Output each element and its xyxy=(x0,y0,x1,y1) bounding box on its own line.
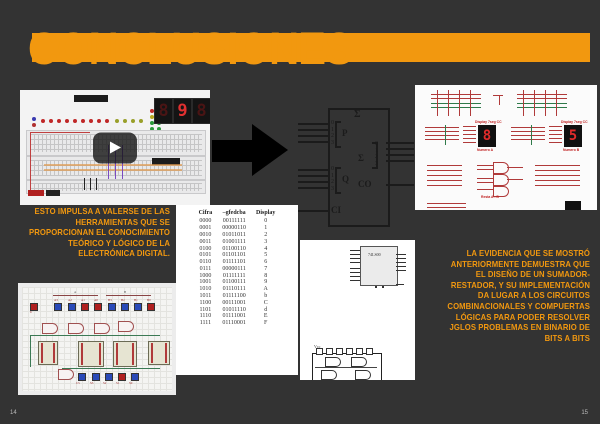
sim-xor-2 xyxy=(68,323,84,334)
table-cell: 3 xyxy=(251,238,280,245)
sim-xor-3 xyxy=(94,323,110,334)
decoder-lower-right xyxy=(535,163,581,189)
table-row: 110101011110d xyxy=(194,306,281,313)
table-cell: 01101101 xyxy=(217,252,251,259)
adder-q-2: 2 xyxy=(331,179,334,186)
wire-black-3 xyxy=(96,178,97,190)
caption-numero-a: Numero A xyxy=(477,148,493,152)
table-cell: 6 xyxy=(251,259,280,266)
sim-out-s3 xyxy=(92,373,100,381)
table-row: 0010010110112 xyxy=(194,232,281,239)
sim-label-s3: S3 xyxy=(90,381,93,385)
table-cell: 0110 xyxy=(194,259,218,266)
display-right: 5 xyxy=(564,125,582,147)
sim-switch-b0[interactable] xyxy=(147,303,155,311)
table-row: 0110011111016 xyxy=(194,259,281,266)
caption-numero-b: Numero B xyxy=(563,148,579,152)
truth-table-sheet: Cifra–gfedcbaDisplay 0000001111110000100… xyxy=(176,205,298,375)
sim-label-s1: S1 xyxy=(116,381,119,385)
subcircuit-b-top xyxy=(515,89,569,119)
seven-segment-0: 8 xyxy=(154,98,173,124)
table-cell: 0101 xyxy=(194,252,218,259)
wire-black-2 xyxy=(90,178,91,190)
table-cell: 1101 xyxy=(194,306,218,313)
sim-switch-b1[interactable] xyxy=(134,303,142,311)
table-cell: 1010 xyxy=(194,286,218,293)
table-cell: 01011110 xyxy=(217,306,251,313)
sim-out-c5 xyxy=(78,373,86,381)
table-cell: A xyxy=(251,286,280,293)
sim-switch-b2[interactable] xyxy=(121,303,129,311)
table-cell: 01111111 xyxy=(217,272,251,279)
dip-package xyxy=(312,353,382,380)
table-cell: 0100 xyxy=(194,245,218,252)
table-cell: 00000111 xyxy=(217,265,251,272)
sim-group-a: A xyxy=(74,290,76,294)
decoder-lower-left xyxy=(427,163,463,189)
sim-switch-a1[interactable] xyxy=(81,303,89,311)
seven-segment-1: 9 xyxy=(173,98,192,124)
truth-table: Cifra–gfedcbaDisplay 0000001111110000100… xyxy=(194,210,281,327)
table-cell: 01111100 xyxy=(217,293,251,300)
table-cell: 0111 xyxy=(194,265,218,272)
conclusion-text-right: LA EVIDENCIA QUE SE MOSTRÓ ANTERIORMENTE… xyxy=(443,248,590,343)
adder-label-sigma-out: Σ xyxy=(358,153,364,163)
adder-p-2: 2 xyxy=(331,133,334,140)
page-number-left: 14 xyxy=(10,410,17,416)
table-row: 111101110001F xyxy=(194,320,281,327)
table-cell: 01001111 xyxy=(217,238,251,245)
table-header-0: Cifra xyxy=(194,210,218,218)
sim-input-b0: B0 xyxy=(147,298,151,302)
table-cell: 5 xyxy=(251,252,280,259)
sim-group-b: B xyxy=(124,290,126,294)
caption-display-left: Display 7seg CC xyxy=(475,120,502,124)
table-cell: 7 xyxy=(251,265,280,272)
table-cell: 1001 xyxy=(194,279,218,286)
decoder-bottom-left xyxy=(427,201,467,210)
wire-orange xyxy=(44,164,182,166)
sim-switch-a2[interactable] xyxy=(68,303,76,311)
adder-sum-0: 0 xyxy=(375,141,378,148)
sim-input-a3: A3 xyxy=(54,298,58,302)
page-title: CONCLUSIONES xyxy=(0,25,600,73)
ic-label: 74LS00 xyxy=(368,252,381,257)
table-cell: 1100 xyxy=(194,299,218,306)
sim-label-s0: S0 xyxy=(129,381,132,385)
adder-q-3: 3 xyxy=(331,186,334,193)
table-cell: 8 xyxy=(251,272,280,279)
sim-out-s2 xyxy=(105,373,113,381)
adder-sum-3: 3 xyxy=(375,161,378,168)
adder-label-ci: CI xyxy=(331,205,341,215)
conclusion-text-left: ESTO IMPULSA A VALERSE DE LAS HERRAMIENT… xyxy=(26,206,170,259)
right-arrow-icon xyxy=(212,124,288,176)
sim-xor-1 xyxy=(42,323,58,334)
decoder-right xyxy=(511,125,546,147)
gate-network xyxy=(477,161,523,193)
table-header-2: Display xyxy=(251,210,280,218)
sim-ic-3 xyxy=(113,341,137,367)
table-row: 0011010011113 xyxy=(194,238,281,245)
table-cell: 00000110 xyxy=(217,225,251,232)
wire-red xyxy=(30,132,31,190)
table-cell: 01100110 xyxy=(217,245,251,252)
table-cell: 1000 xyxy=(194,272,218,279)
table-row: 0001000001101 xyxy=(194,225,281,232)
table-row: 0000001111110 xyxy=(194,218,281,225)
table-header-row: Cifra–gfedcbaDisplay xyxy=(194,210,281,218)
table-row: 1000011111118 xyxy=(194,272,281,279)
table-cell: 00111111 xyxy=(217,218,251,225)
display-bottom-right xyxy=(565,201,581,210)
adder-label-q: Q xyxy=(342,174,349,184)
sim-input-a1: A1 xyxy=(81,298,85,302)
slide-conclusiones: CONCLUSIONES xyxy=(0,0,600,424)
decoder-left xyxy=(425,125,460,147)
wire-red-2 xyxy=(30,132,90,133)
proteus-schematic-sheet: 8 Display 7seg CC Numero A 5 Display 7se… xyxy=(415,85,597,210)
adder-q-0: 0 xyxy=(331,166,334,173)
table-row: 110000111001C xyxy=(194,299,281,306)
table-cell: 01110001 xyxy=(217,320,251,327)
display-left: 8 xyxy=(478,125,496,147)
caption-display-right: Display 7seg CC xyxy=(561,120,588,124)
table-cell: 0011 xyxy=(194,238,218,245)
table-cell: 0 xyxy=(251,218,280,225)
sim-switch-a3[interactable] xyxy=(54,303,62,311)
table-cell: 01011011 xyxy=(217,232,251,239)
ic-datasheet-sheet: 74LS00 Vcc xyxy=(300,240,415,380)
adder-label-p: P xyxy=(342,128,348,138)
page-number-right: 15 xyxy=(581,410,588,416)
table-cell: 01111001 xyxy=(217,313,251,320)
adder-block-symbol: Σ 0 1 2 3 P 0 1 2 3 Q CI Σ xyxy=(290,100,420,230)
sim-ic-2 xyxy=(78,341,104,367)
sim-input-b1: B1 xyxy=(134,298,138,302)
play-icon[interactable] xyxy=(93,132,137,163)
table-cell: 4 xyxy=(251,245,280,252)
table-row: 111001111001E xyxy=(194,313,281,320)
ground-connector xyxy=(46,190,60,196)
subcircuit-a-top xyxy=(429,89,483,119)
table-row: 1001011001119 xyxy=(194,279,281,286)
proteus-simulation-circuit: A B A3 A2 A1 A0 B3 B2 B1 B0 U xyxy=(18,283,176,395)
sim-label-s2: S2 xyxy=(103,381,106,385)
table-cell: 01110111 xyxy=(217,286,251,293)
sim-switch-b3[interactable] xyxy=(108,303,116,311)
adder-p-3: 3 xyxy=(331,140,334,147)
adder-sum-2: 2 xyxy=(375,154,378,161)
table-cell: 1110 xyxy=(194,313,218,320)
table-row: 0101011011015 xyxy=(194,252,281,259)
sim-label-c5: C5 xyxy=(76,381,80,385)
table-cell: 00111001 xyxy=(217,299,251,306)
table-cell: b xyxy=(251,293,280,300)
table-cell: E xyxy=(251,313,280,320)
table-cell: 9 xyxy=(251,279,280,286)
table-cell: F xyxy=(251,320,280,327)
sim-out-s0 xyxy=(131,373,139,381)
table-cell: 1011 xyxy=(194,293,218,300)
sim-input-a0: A0 xyxy=(94,298,98,302)
seven-segment-2: 8 xyxy=(192,98,210,124)
table-cell: 0000 xyxy=(194,218,218,225)
breadboard-video-thumbnail[interactable]: 8 9 8 xyxy=(20,90,210,205)
table-cell: 1111 xyxy=(194,320,218,327)
wire-orange-2 xyxy=(44,169,182,171)
table-header-1: –gfedcba xyxy=(217,210,251,218)
adder-p-0: 0 xyxy=(331,120,334,127)
power-connector xyxy=(28,190,44,196)
table-cell: C xyxy=(251,299,280,306)
table-cell: 2 xyxy=(251,232,280,239)
buffer-right xyxy=(549,123,563,149)
table-row: 0111000001117 xyxy=(194,265,281,272)
chip-label-top xyxy=(74,95,108,102)
table-cell: 0010 xyxy=(194,232,218,239)
wire-black xyxy=(84,178,85,190)
sim-switch-a0[interactable] xyxy=(94,303,102,311)
buffer-left xyxy=(463,123,477,149)
table-cell: d xyxy=(251,306,280,313)
sim-ic-1 xyxy=(38,341,58,365)
sim-input-a2: A2 xyxy=(68,298,72,302)
table-row: 0100011001104 xyxy=(194,245,281,252)
sim-input-b3: B3 xyxy=(108,298,112,302)
table-cell: 0001 xyxy=(194,225,218,232)
table-cell: 01100111 xyxy=(217,279,251,286)
sim-input-b2: B2 xyxy=(121,298,125,302)
title-text: CONCLUSIONES xyxy=(28,25,352,73)
table-cell: 1 xyxy=(251,225,280,232)
sim-xor-4 xyxy=(118,321,134,332)
caption-resta: Resta A - B xyxy=(481,195,499,199)
table-cell: 01111101 xyxy=(217,259,251,266)
adder-label-co: CO xyxy=(358,179,372,189)
table-row: 101001110111A xyxy=(194,286,281,293)
sim-mode-label: U xyxy=(30,310,32,314)
sim-and-out xyxy=(58,369,74,380)
table-row: 101101111100b xyxy=(194,293,281,300)
sim-ic-4 xyxy=(148,341,170,365)
sim-out-s1 xyxy=(118,373,126,381)
